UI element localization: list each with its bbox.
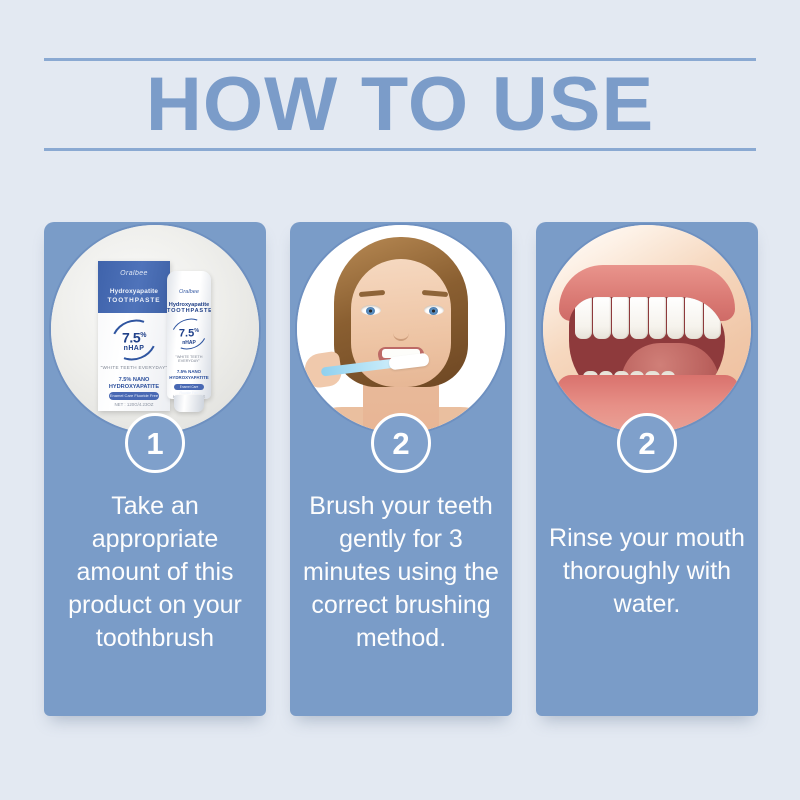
step-caption-3: Rinse your mouth thoroughly with water. [544, 522, 750, 621]
tube-cap [174, 395, 204, 412]
tube-percent-value: 7.5 [179, 328, 194, 340]
percent-ring-graphic: 7.5% nHAP [107, 319, 161, 363]
product-pill-badge: Enamel Care Fluoride Free [109, 392, 159, 400]
step-badge-1: 1 [125, 413, 185, 473]
toothpaste-tube: Oralbee Hydroxyapatite TOOTHPASTE 7.5% n… [167, 271, 211, 416]
toothpaste-box: Oralbee Hydroxyapatite TOOTHPASTE 7.5% n… [98, 261, 170, 411]
tube-brand-label: Oralbee [167, 289, 211, 295]
brand-label: Oralbee [98, 270, 170, 277]
title-rule-bottom [44, 148, 756, 151]
step-card-1[interactable]: Oralbee Hydroxyapatite TOOTHPASTE 7.5% n… [44, 222, 266, 716]
step-card-2[interactable]: 2 Brush your teeth gently for 3 minutes … [290, 222, 512, 716]
page-header: HOW TO USE [44, 52, 756, 157]
product-claim: "WHITE TEETH EVERYDAY" [98, 365, 170, 370]
step-badge-2: 2 [371, 413, 431, 473]
product-sub-line2: HYDROXYAPATITE [98, 384, 170, 391]
product-subline: 7.5% NANO HYDROXYAPATITE [98, 377, 170, 391]
page-title: HOW TO USE [37, 60, 763, 150]
tube-percent-symbol: % [194, 328, 199, 334]
product-line1: Hydroxyapatite [98, 288, 170, 295]
tube-subline: 7.5% NANO HYDROXYAPATITE [167, 369, 211, 380]
product-net-weight: NET : 120G/4.23OZ [98, 402, 170, 407]
open-mouth-teeth-photo [541, 223, 753, 435]
product-line2: TOOTHPASTE [98, 297, 170, 304]
tube-pill-badge: Enamel Care Fluoride Free [174, 384, 204, 390]
woman-brushing-teeth-photo [295, 223, 507, 435]
toothpaste-product-photo: Oralbee Hydroxyapatite TOOTHPASTE 7.5% n… [49, 223, 261, 435]
steps-container: Oralbee Hydroxyapatite TOOTHPASTE 7.5% n… [44, 222, 758, 722]
tube-ingredient-label: nHAP [167, 340, 211, 346]
percent-symbol: % [140, 332, 146, 339]
tube-line2: TOOTHPASTE [167, 308, 211, 314]
step-caption-2: Brush your teeth gently for 3 minutes us… [298, 490, 504, 655]
tube-claim: "WHITE TEETH EVERYDAY" [167, 355, 211, 363]
step-caption-1: Take an appropriate amount of this produ… [52, 490, 258, 655]
tube-sub-line2: HYDROXYAPATITE [167, 375, 211, 381]
step-card-3[interactable]: 2 Rinse your mouth thoroughly with water… [536, 222, 758, 716]
percent-value: 7.5 [122, 330, 140, 346]
step-badge-3: 2 [617, 413, 677, 473]
product-sub-line1: 7.5% NANO [98, 377, 170, 384]
